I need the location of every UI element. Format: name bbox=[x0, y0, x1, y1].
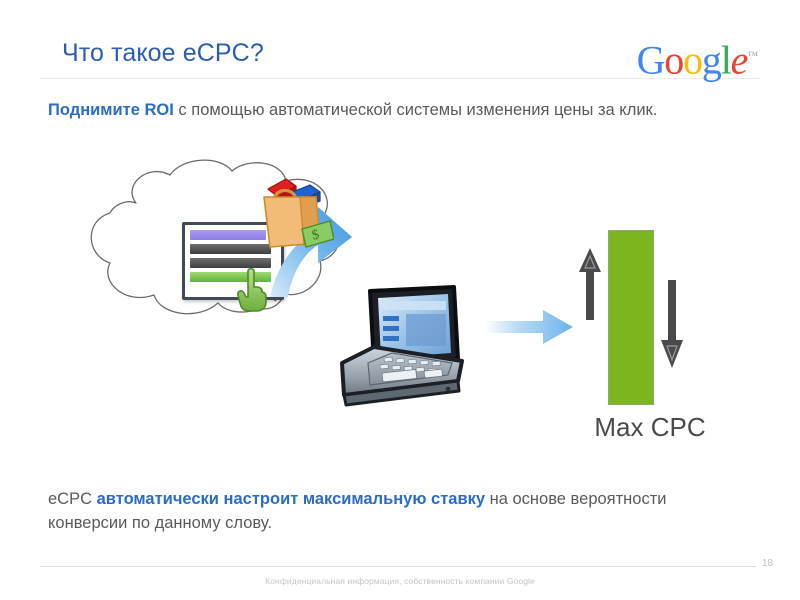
diagram-stage: $ bbox=[0, 150, 800, 470]
page-title: Что такое eCPC? bbox=[62, 39, 264, 68]
serp-row-ad bbox=[190, 230, 266, 240]
logo-letter-g1: G bbox=[637, 37, 665, 82]
lead-rest: с помощью автоматической системы изменен… bbox=[174, 101, 658, 119]
thought-cloud: $ bbox=[70, 155, 360, 340]
laptop-icon bbox=[330, 285, 470, 407]
footer-divider bbox=[40, 566, 756, 567]
logo-letter-e: e bbox=[731, 37, 748, 82]
max-cpc-label: Max CPC bbox=[580, 412, 720, 443]
logo-letter-o1: o bbox=[664, 37, 683, 82]
logo-letter-g2: g bbox=[702, 37, 721, 82]
arrow-down-icon bbox=[660, 280, 684, 368]
closing-prefix: eCPC bbox=[48, 490, 97, 508]
lead-highlight: Поднимите ROI bbox=[48, 101, 174, 119]
trademark-symbol: ™ bbox=[747, 50, 758, 62]
lead-paragraph: Поднимите ROI с помощью автоматической с… bbox=[48, 98, 668, 122]
page-number: 18 bbox=[762, 558, 773, 569]
confidential-note: Конфиденциальная информация, собственнос… bbox=[0, 576, 800, 586]
max-cpc-bar bbox=[608, 230, 654, 405]
closing-highlight: автоматически настроит максимальную став… bbox=[97, 490, 485, 508]
google-logo: Google™ bbox=[637, 36, 758, 80]
closing-paragraph: eCPC автоматически настроит максимальную… bbox=[48, 487, 688, 535]
logo-letter-l: l bbox=[721, 37, 731, 82]
flow-arrow-icon bbox=[485, 308, 575, 346]
logo-letter-o2: o bbox=[683, 37, 702, 82]
shopping-bag-icon: $ bbox=[256, 171, 334, 255]
arrow-up-icon bbox=[578, 248, 602, 320]
